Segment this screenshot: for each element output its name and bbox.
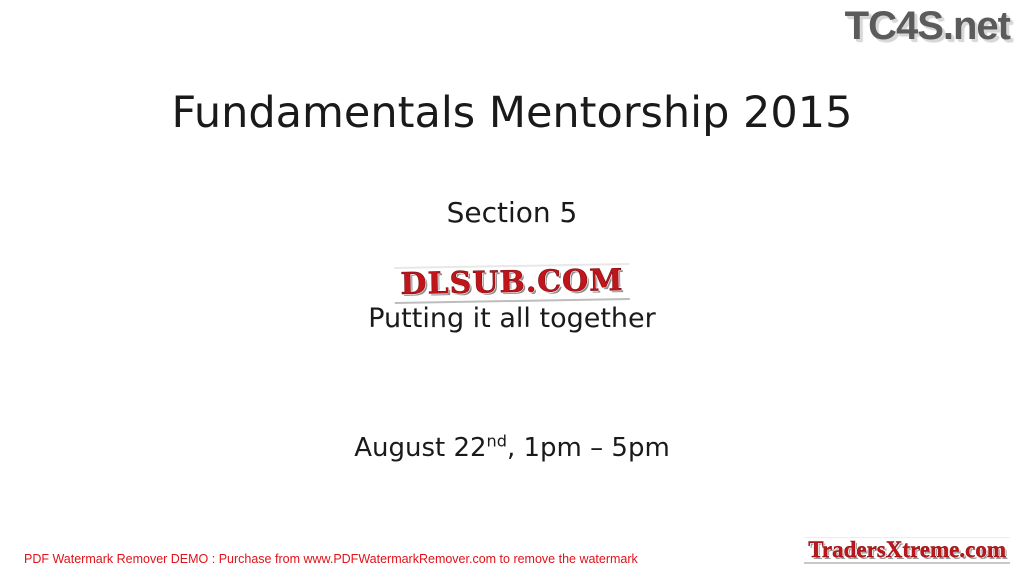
datetime-ordinal: nd xyxy=(487,431,507,450)
tradersxtreme-watermark: TradersXtreme.com xyxy=(804,537,1010,564)
slide-tagline: Putting it all together xyxy=(0,303,1024,334)
pdf-watermark-demo-notice: PDF Watermark Remover DEMO : Purchase fr… xyxy=(24,552,638,566)
slide-title: Fundamentals Mentorship 2015 xyxy=(0,88,1024,138)
tc4s-watermark: TC4S.net xyxy=(845,4,1010,49)
slide-canvas: TC4S.net Fundamentals Mentorship 2015 Se… xyxy=(0,0,1024,576)
dlsub-watermark: DLSUB.COM xyxy=(394,263,630,304)
datetime-suffix: , 1pm – 5pm xyxy=(507,433,670,463)
left-edge-strip xyxy=(0,0,3,576)
slide-subtitle: Section 5 xyxy=(0,196,1024,229)
slide-datetime: August 22nd, 1pm – 5pm xyxy=(0,433,1024,463)
datetime-prefix: August 22 xyxy=(354,433,486,463)
